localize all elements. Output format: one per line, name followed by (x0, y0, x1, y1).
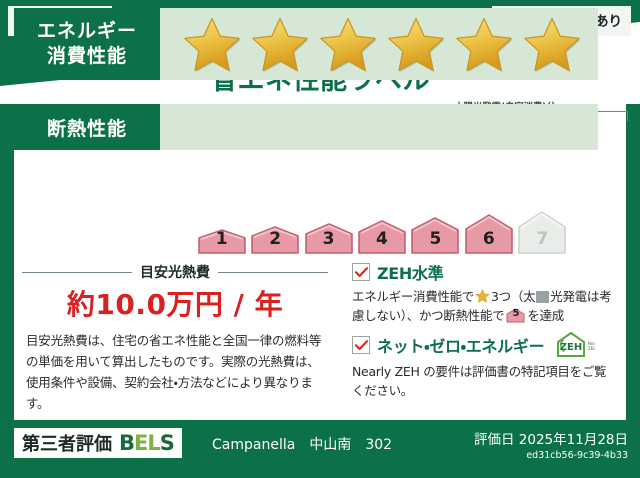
energy-performance-label: 住宅（住戸） 再エネ設備あり 建築物省エネ法に基づく 省エネ性能ラベル エネルギ… (0, 0, 640, 478)
net-zero-energy-checkbox[interactable] (352, 336, 370, 354)
check-icon (355, 267, 368, 278)
zeh-standard-checkbox[interactable] (352, 263, 370, 281)
svg-text:ZEH: ZEH (588, 346, 595, 351)
insulation-grade-value: 4 (356, 229, 407, 249)
insulation-performance-label-box: 断熱性能 (14, 104, 160, 150)
star-icon (182, 16, 242, 73)
net-zero-energy-title: ネット・ゼロ・エネルギー (377, 333, 544, 357)
evaluation-date: 評価日 2025年11月28日 (474, 428, 628, 448)
zeh-standard-item: ZEH水準 エネルギー消費性能で3つ（太光発電は考慮しない）、かつ断熱性能で5を… (352, 260, 614, 325)
insulation-grade-badge: 3 (303, 222, 354, 254)
insulation-label: 断熱性能 (47, 114, 127, 141)
zeh-house-logo: ZEH Nearly ZEH (555, 331, 595, 359)
inline-grade-badge: 5 (506, 308, 525, 323)
evaluation-date-label: 評価日 (474, 432, 515, 448)
check-icon (355, 340, 368, 351)
insulation-grade-badge: 7 (517, 210, 568, 254)
zeh-body-text-4: を達成 (527, 308, 564, 323)
insulation-grade-value: 5 (410, 229, 461, 249)
insulation-performance-panel (160, 104, 598, 150)
zeh-standard-title: ZEH水準 (377, 260, 443, 284)
star-icon (318, 16, 378, 73)
building-area: 中山南 (309, 437, 351, 453)
building-name: Campanella (212, 437, 295, 453)
insulation-grade-badge: 1 (196, 228, 247, 254)
footer-bar: 第三者評価 BELS Campanella中山南302 評価日 2025年11月… (0, 420, 640, 478)
energy-performance-label-box: エネルギー 消費性能 (14, 8, 160, 80)
star-icon (250, 16, 310, 73)
utility-cost-heading: 目安光熱費 (22, 262, 328, 282)
star-icon (522, 16, 582, 73)
heading-rule-right (218, 272, 328, 273)
evaluation-id: ed31cb56-9c39-4b33 (474, 450, 628, 461)
building-identifier: Campanella中山南302 (212, 434, 392, 454)
insulation-grade-value: 7 (517, 229, 568, 249)
zeh-body-text-2: 3つ（太 (491, 289, 535, 304)
insulation-grade-badge: 5 (410, 216, 461, 254)
net-zero-energy-item: ネット・ゼロ・エネルギー ZEH Nearly ZEH Nearly ZEH の… (352, 331, 614, 400)
heading-rule-left (22, 272, 132, 273)
star-icon (386, 16, 446, 73)
energy-label-line2: 消費性能 (47, 44, 127, 69)
third-party-eval-label: 第三者評価 (22, 430, 112, 456)
building-unit: 302 (365, 437, 392, 453)
bels-badge: 第三者評価 BELS (14, 428, 182, 458)
bels-logo: BELS (119, 431, 174, 455)
evaluation-date-block: 評価日 2025年11月28日 ed31cb56-9c39-4b33 (474, 428, 628, 461)
zeh-section: ZEH水準 エネルギー消費性能で3つ（太光発電は考慮しない）、かつ断熱性能で5を… (352, 260, 614, 406)
star-icon (454, 16, 514, 73)
star-rating (176, 12, 588, 76)
utility-cost-note: 目安光熱費は、住宅の省エネ性能と全国一律の燃料等の単価を用いて算出したものです。… (26, 330, 326, 414)
evaluation-date-value: 2025年11月28日 (519, 432, 628, 448)
utility-cost-heading-label: 目安光熱費 (140, 262, 210, 282)
insulation-grade-value: 1 (196, 229, 247, 249)
utility-cost-value: 約10.0万円 / 年 (22, 283, 328, 323)
star-icon (475, 289, 490, 303)
insulation-grade-scale: 1234567 (196, 206, 568, 254)
insulation-grade-badge: 6 (463, 213, 514, 254)
insulation-grade-value: 3 (303, 229, 354, 249)
svg-text:ZEH: ZEH (560, 342, 582, 353)
energy-label-line1: エネルギー (37, 19, 137, 44)
zeh-standard-body: エネルギー消費性能で3つ（太光発電は考慮しない）、かつ断熱性能で5を達成 (352, 287, 614, 325)
zeh-standard-header: ZEH水準 (352, 260, 614, 284)
inline-grade-value: 5 (506, 304, 525, 323)
insulation-grade-value: 2 (249, 229, 300, 249)
net-zero-energy-header: ネット・ゼロ・エネルギー ZEH Nearly ZEH (352, 331, 614, 359)
insulation-grade-badge: 2 (249, 225, 300, 254)
redacted-block (536, 291, 549, 303)
insulation-grade-badge: 4 (356, 219, 407, 254)
insulation-grade-value: 6 (463, 229, 514, 249)
net-zero-energy-body: Nearly ZEH の要件は評価書の特記項目をご覧ください。 (352, 362, 614, 400)
zeh-body-text-1: エネルギー消費性能で (352, 289, 474, 304)
